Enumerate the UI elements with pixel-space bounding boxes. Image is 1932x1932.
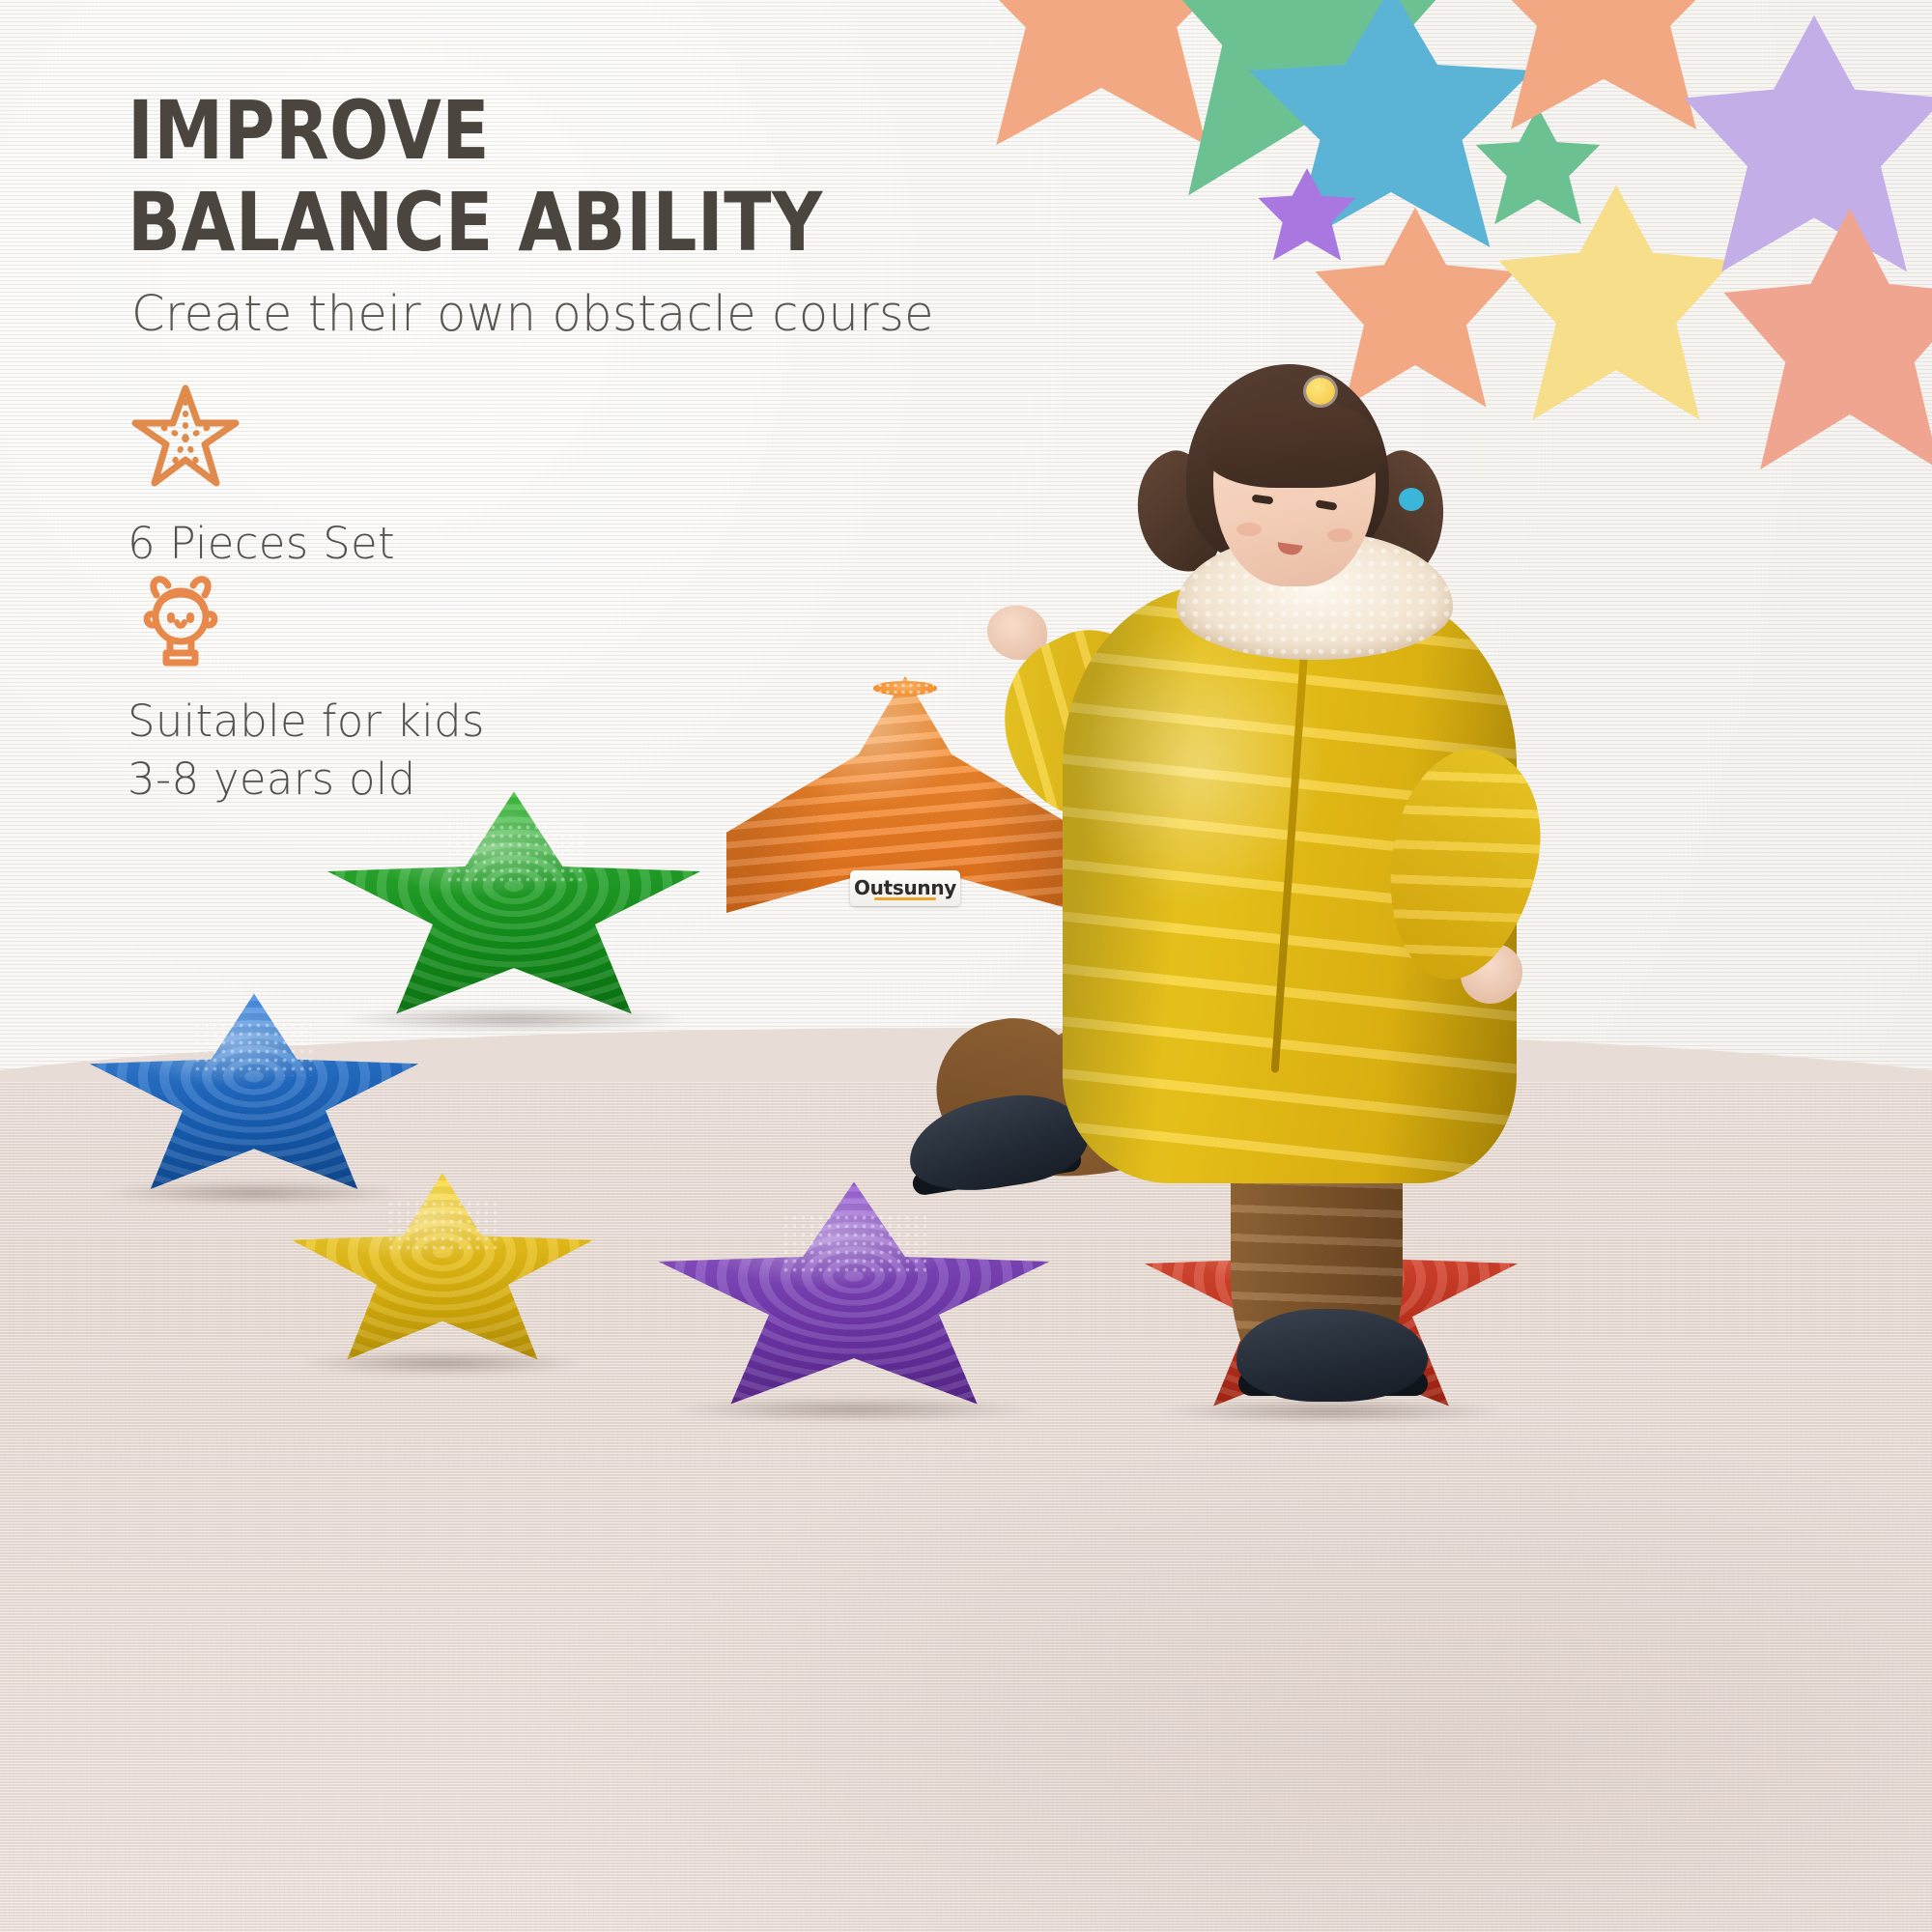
stone-highlight <box>278 1167 607 1370</box>
hair-clip <box>1306 378 1335 405</box>
stone-shadow <box>304 1350 581 1376</box>
star-green-2 <box>1470 104 1605 235</box>
cheek-left <box>1236 523 1262 536</box>
feature-pieces-count: 6 Pieces Set <box>128 379 395 573</box>
shoe-right <box>1236 1309 1428 1402</box>
feature-age-range: Suitable for kids 3-8 years old <box>128 566 485 809</box>
girl-face-icon <box>128 566 485 675</box>
yellow-star-stone[interactable] <box>278 1167 607 1370</box>
page-title: IMPROVE BALANCE ABILITY <box>128 85 823 269</box>
cheek-right <box>1327 528 1352 542</box>
poster-canvas: IMPROVE BALANCE ABILITY Create their own… <box>0 0 1932 1932</box>
hair-tie <box>1399 488 1424 511</box>
stone-grip-dots <box>386 1200 498 1253</box>
feature-pieces-label: 6 Pieces Set <box>128 515 395 573</box>
child-figure <box>918 343 1536 1406</box>
star-purple-2 <box>1669 10 1932 295</box>
stone-grip-dots <box>193 1021 315 1076</box>
starfish-icon <box>128 379 395 497</box>
stone-grip-dots <box>445 823 583 886</box>
stone-grip-dots <box>781 1213 926 1276</box>
page-subtitle: Create their own obstacle course <box>131 286 934 343</box>
